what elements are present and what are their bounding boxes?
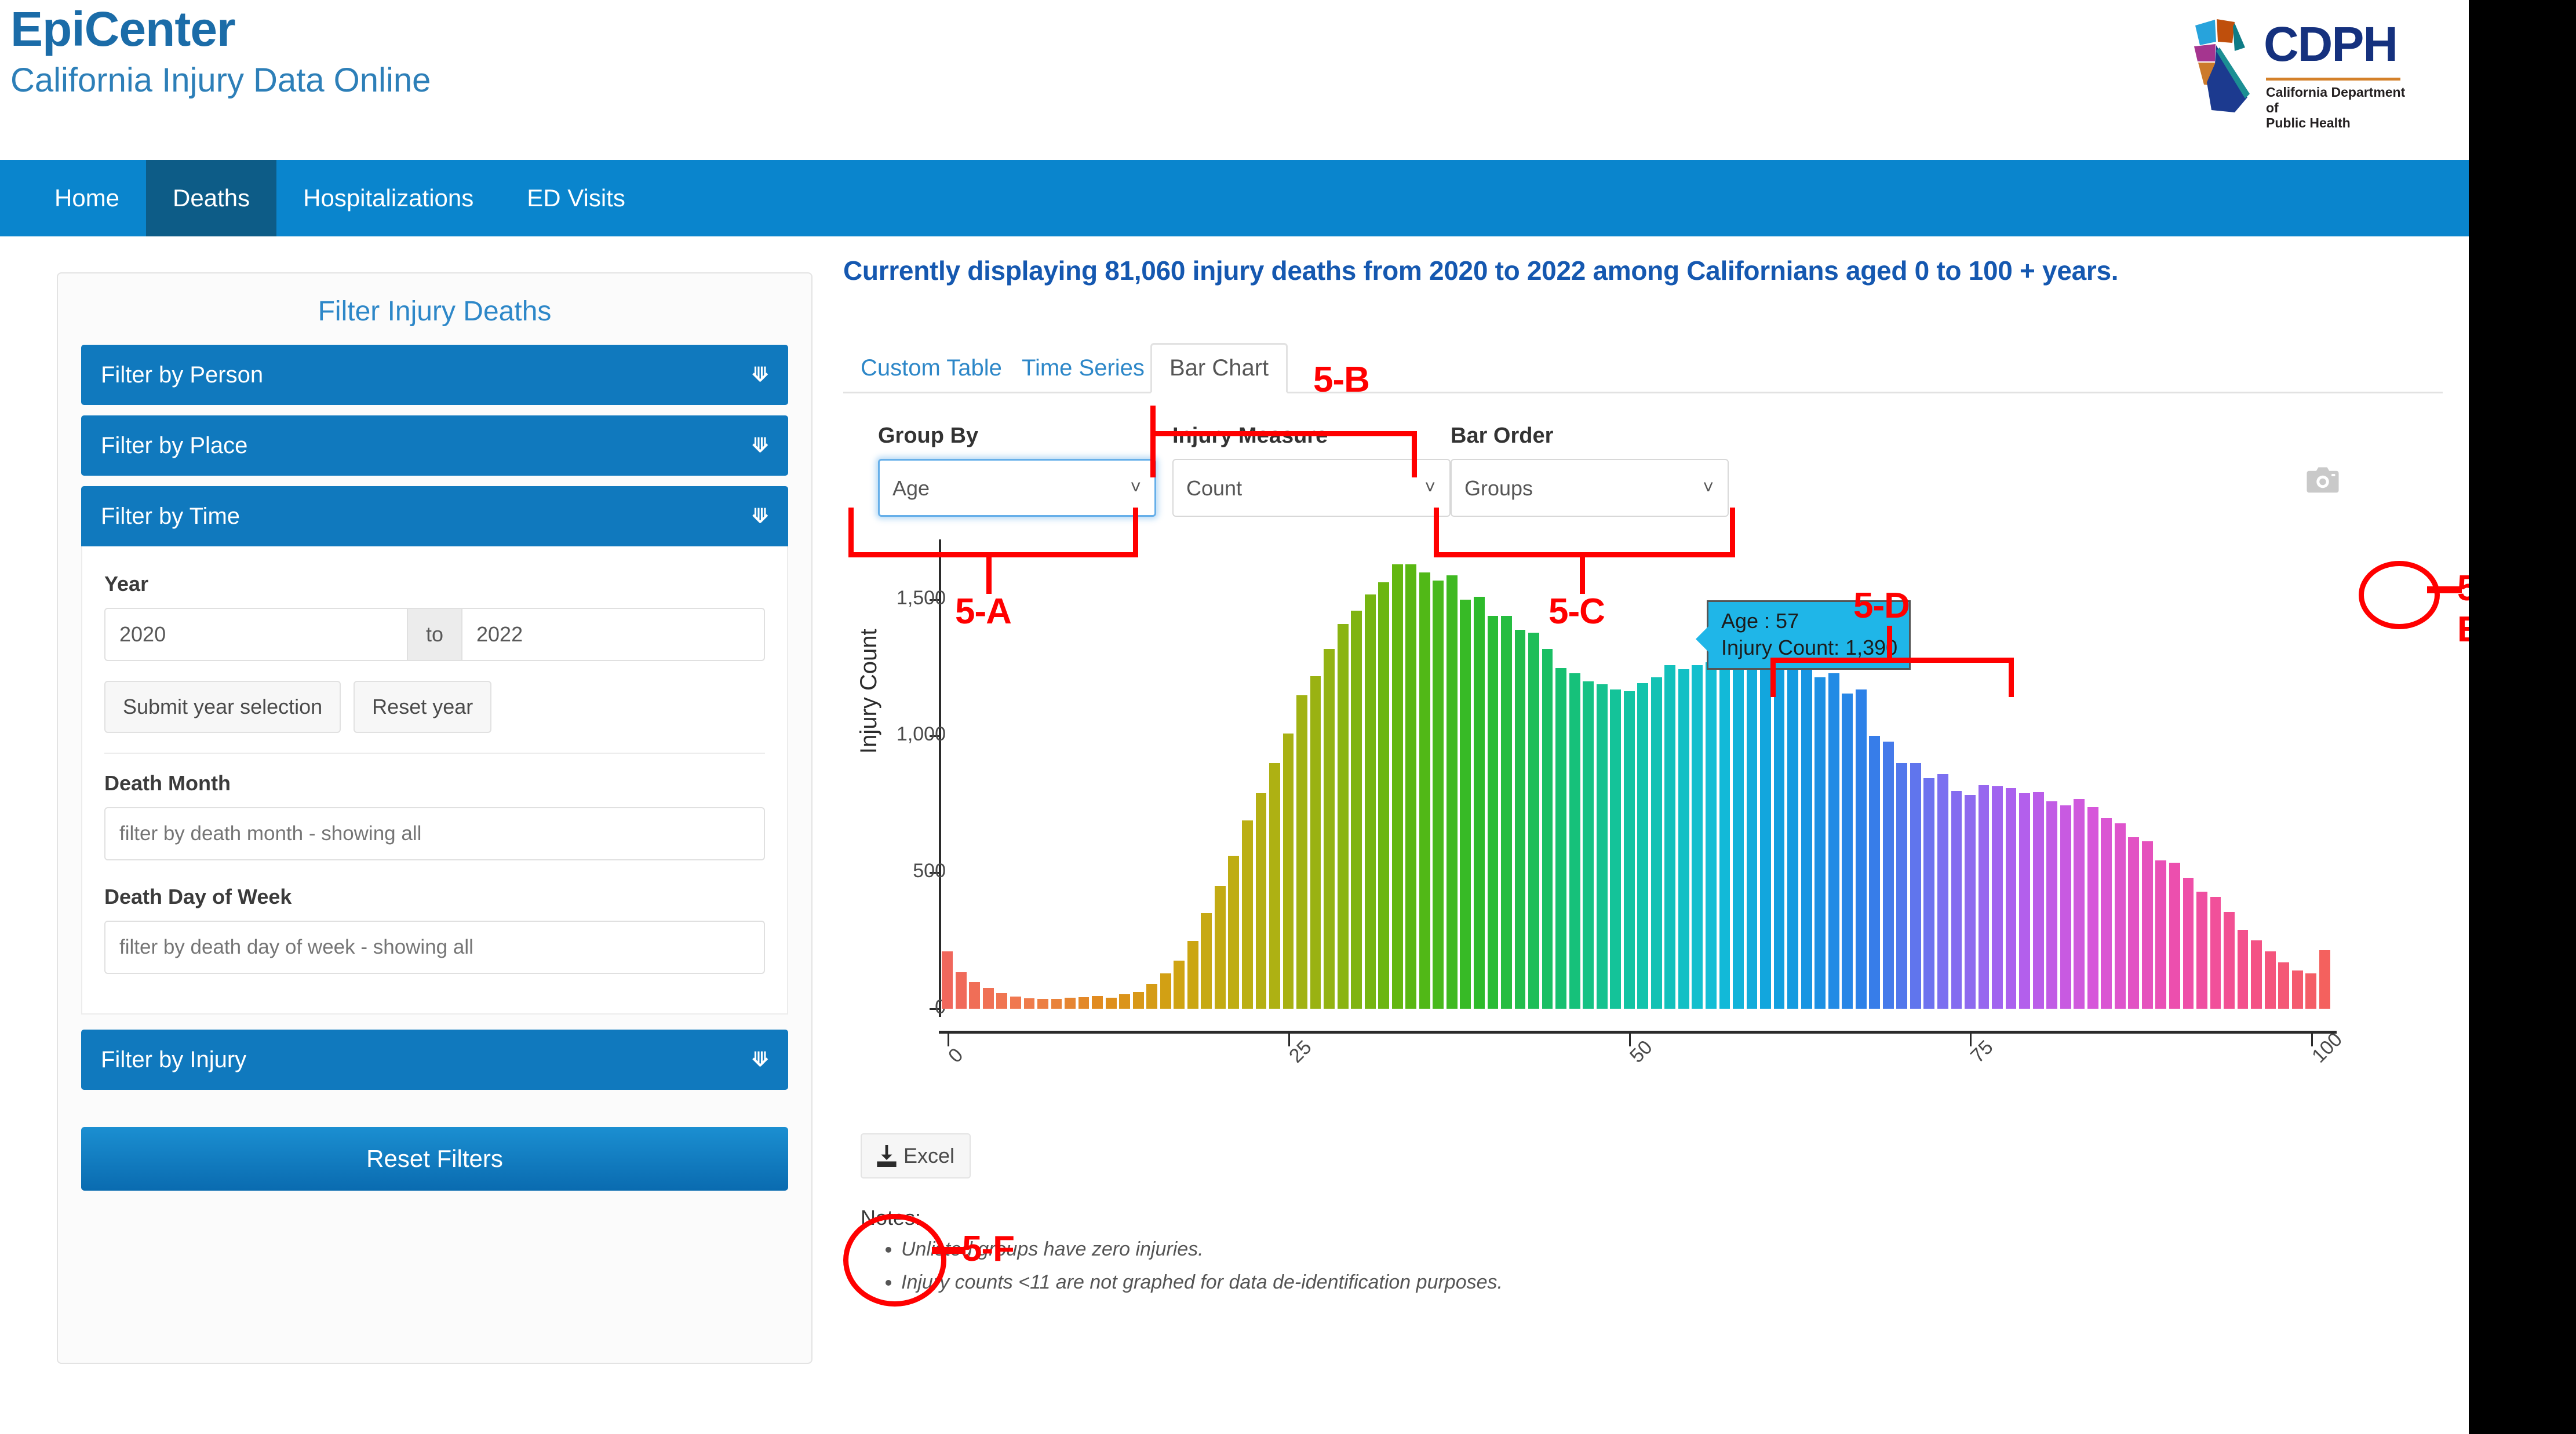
chart-bar[interactable]	[1187, 941, 1198, 1009]
chart-bar[interactable]	[1079, 997, 1090, 1009]
chart-bar[interactable]	[1447, 575, 1458, 1009]
death-day-of-week-label: Death Day of Week	[104, 885, 765, 909]
chart-bar[interactable]	[1842, 694, 1853, 1009]
chart-bar[interactable]	[1365, 594, 1376, 1009]
x-tick-mark	[1970, 1034, 1972, 1046]
annotation-ellipse-5e	[2359, 561, 2440, 629]
chart-bar[interactable]	[1706, 662, 1717, 1009]
y-axis-label: Injury Count	[856, 629, 882, 754]
x-tick-mark	[1629, 1034, 1631, 1046]
nav-item-deaths[interactable]: Deaths	[146, 160, 276, 236]
y-tick-label: 1,000	[897, 723, 946, 746]
download-icon	[877, 1145, 897, 1167]
x-axis-line	[939, 1031, 2337, 1034]
notes-title: Notes:	[861, 1206, 1503, 1230]
excel-button-label: Excel	[903, 1144, 954, 1168]
bar-chart: Injury Count 05001,0001,500 0255075100 A…	[843, 545, 2443, 1125]
chart-bar[interactable]	[2319, 950, 2330, 1009]
chart-bar[interactable]	[2196, 892, 2207, 1009]
chart-bar[interactable]	[1133, 992, 1144, 1009]
reset-year-button[interactable]: Reset year	[354, 681, 491, 733]
chart-bar[interactable]	[1515, 630, 1526, 1009]
brand-block: EpiCenter California Injury Data Online	[10, 5, 431, 97]
chart-bar[interactable]	[1269, 763, 1280, 1009]
chart-bar[interactable]	[2265, 951, 2276, 1009]
death-day-of-week-input[interactable]	[104, 921, 765, 974]
chart-bar[interactable]	[1488, 616, 1499, 1009]
chart-controls: Group By Age ˅ Injury Measure Count ˅ Ba…	[843, 424, 2443, 510]
chart-bar[interactable]	[1201, 913, 1212, 1009]
note-item: Injury counts <11 are not graphed for da…	[901, 1271, 1503, 1294]
group-by-control: Group By Age ˅	[878, 424, 1156, 517]
nav-item-home[interactable]: Home	[28, 160, 146, 236]
chart-bar[interactable]	[1923, 778, 1934, 1009]
bar-order-control: Bar Order Groups ˅	[1451, 424, 1729, 517]
bar-order-select[interactable]: Groups	[1451, 459, 1729, 517]
x-tick-mark	[948, 1034, 949, 1046]
chart-bar[interactable]	[2155, 860, 2166, 1009]
annotation-line-5b-top	[1150, 431, 1417, 436]
group-by-select[interactable]: Age	[878, 459, 1156, 517]
year-to-input[interactable]	[461, 608, 765, 661]
chart-bar[interactable]	[1474, 597, 1485, 1009]
chart-bar[interactable]	[983, 988, 994, 1009]
x-tick-mark	[1288, 1034, 1290, 1046]
chart-bar[interactable]	[956, 972, 967, 1009]
chart-bar[interactable]	[1501, 616, 1512, 1009]
chart-bar[interactable]	[1597, 684, 1608, 1009]
excel-button[interactable]: Excel	[861, 1133, 971, 1178]
year-button-row: Submit year selection Reset year	[104, 681, 765, 733]
chart-bar[interactable]	[2033, 792, 2044, 1009]
chart-bar[interactable]	[2251, 940, 2262, 1009]
annotation-line-5c-left	[1434, 508, 1439, 557]
chart-bar[interactable]	[1692, 665, 1703, 1009]
annotation-line-5e	[2427, 586, 2462, 593]
chart-bar[interactable]	[1542, 649, 1553, 1009]
annotation-line-5b-right	[1412, 431, 1417, 477]
plot-bars	[941, 545, 2331, 1009]
chart-bar[interactable]	[1037, 999, 1048, 1009]
x-tick-label: 100	[2308, 1028, 2347, 1068]
annotation-label-5f: 5-F	[962, 1228, 1014, 1269]
chart-bar[interactable]	[1883, 742, 1894, 1009]
chart-bar[interactable]	[1869, 736, 1880, 1009]
chart-bar[interactable]	[1378, 582, 1389, 1009]
chart-bar[interactable]	[1951, 791, 1962, 1009]
annotation-line-5a-left	[848, 508, 854, 557]
chart-bar[interactable]	[2128, 837, 2139, 1009]
chart-bar[interactable]	[1610, 689, 1621, 1009]
chart-bar[interactable]	[1310, 676, 1321, 1009]
group-by-label: Group By	[878, 424, 1156, 448]
chevron-down-icon: ⟱	[752, 505, 769, 528]
chart-notes: Notes: Unlisted groups have zero injurie…	[861, 1206, 1503, 1304]
nav-item-hospitalizations[interactable]: Hospitalizations	[276, 160, 500, 236]
annotation-line-5c-stem	[1580, 552, 1585, 594]
chart-bar[interactable]	[2238, 930, 2249, 1009]
bar-order-label: Bar Order	[1451, 424, 1729, 448]
chart-bar[interactable]	[1896, 763, 1907, 1009]
chart-bar[interactable]	[2074, 799, 2085, 1009]
chart-bar[interactable]	[1010, 997, 1021, 1009]
x-tick-label: 0	[944, 1044, 968, 1068]
y-tick-label: 1,500	[897, 587, 946, 610]
chart-bar[interactable]	[2292, 970, 2303, 1009]
main-content: Currently displaying 81,060 injury death…	[843, 255, 2443, 1125]
chart-bar[interactable]	[1119, 994, 1130, 1009]
chart-bar[interactable]	[2305, 973, 2316, 1009]
chart-bar[interactable]	[1856, 689, 1867, 1009]
chart-bar[interactable]	[1787, 646, 1798, 1009]
chart-bar[interactable]	[969, 982, 980, 1009]
chart-bar[interactable]	[2210, 897, 2221, 1009]
annotation-line-5d-top	[1770, 658, 2014, 663]
chart-bar[interactable]	[1296, 695, 1307, 1009]
chart-bar[interactable]	[2183, 878, 2194, 1009]
annotation-line-5a-right	[1133, 508, 1138, 557]
chart-bar[interactable]	[1024, 998, 1035, 1009]
reset-filters-button[interactable]: Reset Filters	[81, 1127, 788, 1191]
chart-bar[interactable]	[2101, 818, 2112, 1009]
page-headline: Currently displaying 81,060 injury death…	[843, 255, 2443, 286]
chart-bar[interactable]	[1106, 998, 1117, 1009]
injury-measure-select[interactable]: Count	[1172, 459, 1451, 517]
x-tick-mark	[2311, 1034, 2313, 1046]
chart-bar[interactable]	[1719, 630, 1730, 1009]
accordion-filter-by-person[interactable]: Filter by Person ⟱	[81, 345, 788, 405]
chart-bar[interactable]	[1065, 998, 1076, 1009]
annotation-line-5d-left	[1770, 658, 1776, 697]
divider	[104, 753, 765, 754]
chart-bar[interactable]	[2224, 912, 2235, 1009]
chevron-down-icon: ⟱	[752, 434, 769, 457]
chart-bar[interactable]	[1760, 638, 1771, 1009]
chart-bar[interactable]	[2006, 788, 2017, 1009]
chart-bar[interactable]	[1965, 795, 1976, 1009]
chart-bar[interactable]	[1405, 564, 1416, 1009]
page-header: EpiCenter California Injury Data Online …	[0, 0, 2469, 160]
chart-bar[interactable]	[1992, 786, 2003, 1009]
annotation-label-5a: 5-A	[955, 591, 1011, 632]
annotation-line-5c-right	[1730, 508, 1735, 557]
nav-item-ed-visits[interactable]: ED Visits	[500, 160, 652, 236]
chart-bar[interactable]	[1801, 665, 1812, 1009]
annotation-line-5d-right	[2009, 658, 2014, 697]
chart-bar[interactable]	[1569, 673, 1580, 1009]
chevron-down-icon: ⟱	[752, 363, 769, 386]
chart-bar[interactable]	[1583, 681, 1594, 1009]
chart-bar[interactable]	[1637, 683, 1648, 1009]
chart-bar[interactable]	[1651, 677, 1662, 1009]
filter-sidebar: Filter Injury Deaths Filter by Person ⟱ …	[57, 272, 812, 1364]
annotation-label-5c: 5-C	[1548, 591, 1605, 632]
cdph-dept-line1: California Department of	[2266, 85, 2405, 115]
accordion-filter-by-place[interactable]: Filter by Place ⟱	[81, 415, 788, 476]
chart-bar[interactable]	[1555, 668, 1566, 1009]
annotation-line-5b-left	[1150, 431, 1156, 477]
tab-time-series[interactable]: Time Series	[1004, 345, 1162, 392]
chart-bar[interactable]	[2087, 807, 2098, 1009]
chart-bar[interactable]	[1146, 984, 1157, 1009]
annotation-line-5d-stem	[1887, 626, 1892, 661]
chart-bar[interactable]	[1215, 886, 1226, 1009]
chart-bar[interactable]	[1528, 633, 1539, 1009]
chart-bar[interactable]	[2046, 801, 2057, 1009]
chart-bar[interactable]	[1937, 774, 1948, 1009]
chart-bar[interactable]	[1815, 677, 1826, 1009]
year-label: Year	[104, 572, 765, 596]
chart-bar[interactable]	[1979, 785, 1990, 1009]
chart-bar[interactable]	[1256, 793, 1267, 1009]
year-range-separator: to	[408, 608, 461, 661]
annotation-label-5b: 5-B	[1313, 359, 1369, 400]
chart-bar[interactable]	[996, 993, 1007, 1009]
app-subtitle: California Injury Data Online	[10, 64, 431, 97]
submit-year-selection-button[interactable]: Submit year selection	[104, 681, 341, 733]
chart-bar[interactable]	[1092, 996, 1103, 1009]
chevron-down-icon: ⟱	[752, 1048, 769, 1071]
year-range-row: to	[104, 608, 765, 661]
chart-bar[interactable]	[1460, 600, 1471, 1009]
app-title: EpiCenter	[10, 5, 431, 53]
chart-bar[interactable]	[1910, 763, 1921, 1009]
chart-bar[interactable]	[2060, 805, 2071, 1009]
accordion-label-injury: Filter by Injury	[101, 1047, 246, 1073]
chart-bar[interactable]	[1160, 973, 1171, 1009]
cdph-dept-line2: Public Health	[2266, 115, 2351, 130]
chart-bar[interactable]	[2115, 823, 2126, 1009]
chart-bar[interactable]	[2169, 863, 2180, 1009]
filter-by-time-panel: Year to Submit year selection Reset year…	[81, 546, 788, 1015]
chart-bar[interactable]	[1051, 999, 1062, 1009]
chart-bar[interactable]	[1351, 611, 1362, 1009]
accordion-label-place: Filter by Place	[101, 433, 247, 459]
camera-button[interactable]	[2301, 463, 2345, 498]
annotation-label-5e: 5-E	[2457, 568, 2469, 650]
chart-bar[interactable]	[1338, 624, 1349, 1009]
chart-bar[interactable]	[1828, 673, 1839, 1009]
chart-bar[interactable]	[1174, 961, 1185, 1009]
accordion-filter-by-injury[interactable]: Filter by Injury ⟱	[81, 1030, 788, 1090]
annotation-line-5f	[932, 1247, 965, 1254]
logo-rule	[2266, 78, 2400, 81]
death-month-input[interactable]	[104, 807, 765, 860]
tab-custom-table[interactable]: Custom Table	[843, 345, 1019, 392]
accordion-filter-by-time[interactable]: Filter by Time ⟱	[81, 486, 788, 546]
main-navbar: Home Deaths Hospitalizations ED Visits	[0, 160, 2469, 236]
death-month-label: Death Month	[104, 771, 765, 796]
chart-bar[interactable]	[1733, 637, 1744, 1009]
year-from-input[interactable]	[104, 608, 408, 661]
chart-bar[interactable]	[2142, 841, 2153, 1009]
chart-bar[interactable]	[2278, 962, 2289, 1009]
chart-bar[interactable]	[1433, 581, 1444, 1009]
accordion-label-person: Filter by Person	[101, 362, 263, 388]
chart-bar[interactable]	[2019, 793, 2030, 1009]
chart-bar[interactable]	[1624, 691, 1635, 1009]
chart-bar[interactable]	[1747, 638, 1758, 1009]
chart-bar[interactable]	[1678, 669, 1689, 1009]
california-map-icon	[2189, 13, 2261, 117]
chart-bar[interactable]	[1283, 734, 1294, 1009]
chart-bar[interactable]	[1664, 665, 1675, 1009]
chart-bar[interactable]	[1242, 820, 1253, 1009]
chart-bar[interactable]	[942, 951, 953, 1009]
tab-bar-chart[interactable]: Bar Chart	[1150, 343, 1288, 393]
view-tabs: Custom Table Time Series Bar Chart	[843, 336, 2443, 393]
app-page: EpiCenter California Injury Data Online …	[0, 0, 2469, 1434]
cdph-department-name: California Department of Public Health	[2266, 85, 2411, 131]
accordion-label-time: Filter by Time	[101, 503, 240, 530]
cdph-acronym: CDPH	[2264, 20, 2397, 68]
annotation-ellipse-5f	[843, 1214, 946, 1307]
chart-bar[interactable]	[1392, 564, 1403, 1009]
sidebar-title: Filter Injury Deaths	[58, 273, 811, 345]
annotation-label-5d: 5-D	[1853, 585, 1910, 626]
chart-bar[interactable]	[1419, 572, 1430, 1009]
annotation-line-5a-bottom	[848, 552, 1138, 557]
annotation-line-5a-stem	[986, 552, 992, 594]
chart-bar[interactable]	[1228, 856, 1239, 1009]
camera-icon	[2305, 466, 2341, 495]
cdph-logo: CDPH California Department of Public Hea…	[2189, 13, 2404, 117]
tooltip-arrow	[1696, 626, 1708, 652]
injury-measure-control: Injury Measure Count ˅	[1172, 424, 1451, 517]
chart-bar[interactable]	[1324, 649, 1335, 1009]
